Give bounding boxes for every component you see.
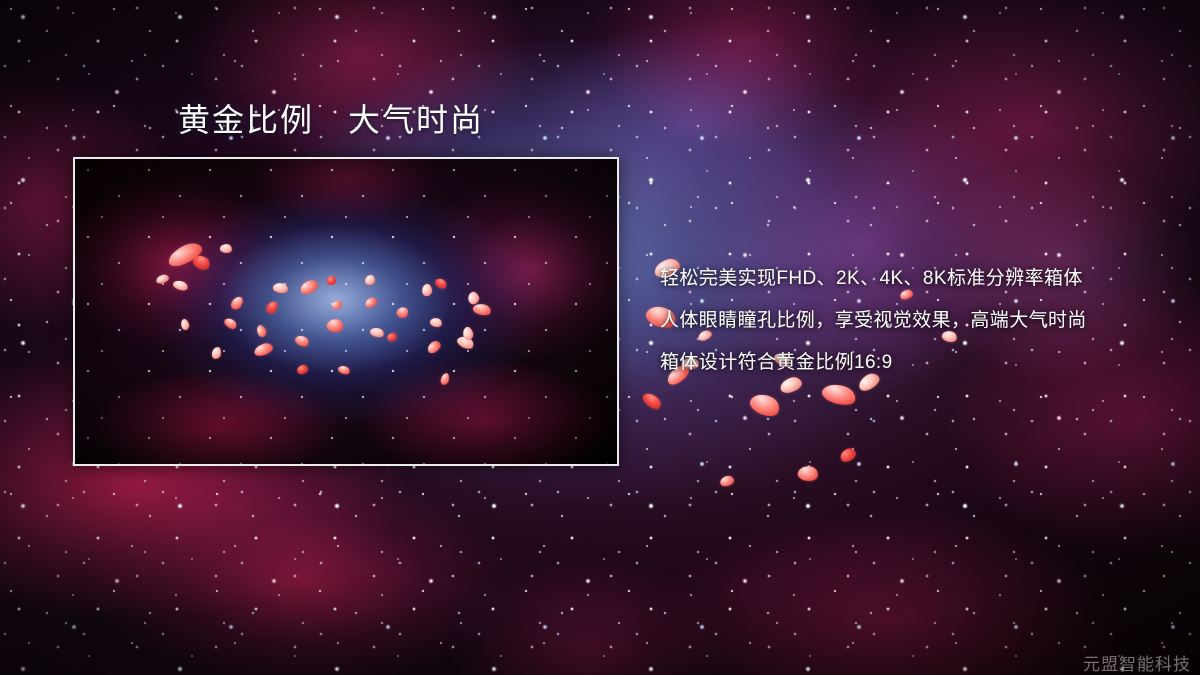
page-title: 黄金比例 大气时尚 xyxy=(178,100,484,140)
image-panel xyxy=(73,157,619,466)
watermark: 元盟智能科技 xyxy=(1083,650,1191,675)
petal-shape xyxy=(747,389,783,420)
petal-shape xyxy=(640,390,663,412)
panel-vignette xyxy=(75,159,617,464)
petal-shape xyxy=(719,475,735,487)
petal-shape xyxy=(838,446,857,463)
body-line: 轻松完美实现FHD、2K、4K、8K标准分辨率箱体 xyxy=(660,258,1180,300)
presentation-slide: 黄金比例 大气时尚 轻松完美实现FHD、2K、4K、8K标准分辨率箱体 人体眼睛… xyxy=(0,0,1200,675)
petal-shape xyxy=(797,464,820,483)
body-line: 人体眼睛瞳孔比例，享受视觉效果，高端大气时尚 xyxy=(660,300,1180,342)
petal-shape xyxy=(820,380,858,409)
body-line: 箱体设计符合黄金比例16:9 xyxy=(660,342,1180,384)
body-text-block: 轻松完美实现FHD、2K、4K、8K标准分辨率箱体 人体眼睛瞳孔比例，享受视觉效… xyxy=(660,258,1180,384)
